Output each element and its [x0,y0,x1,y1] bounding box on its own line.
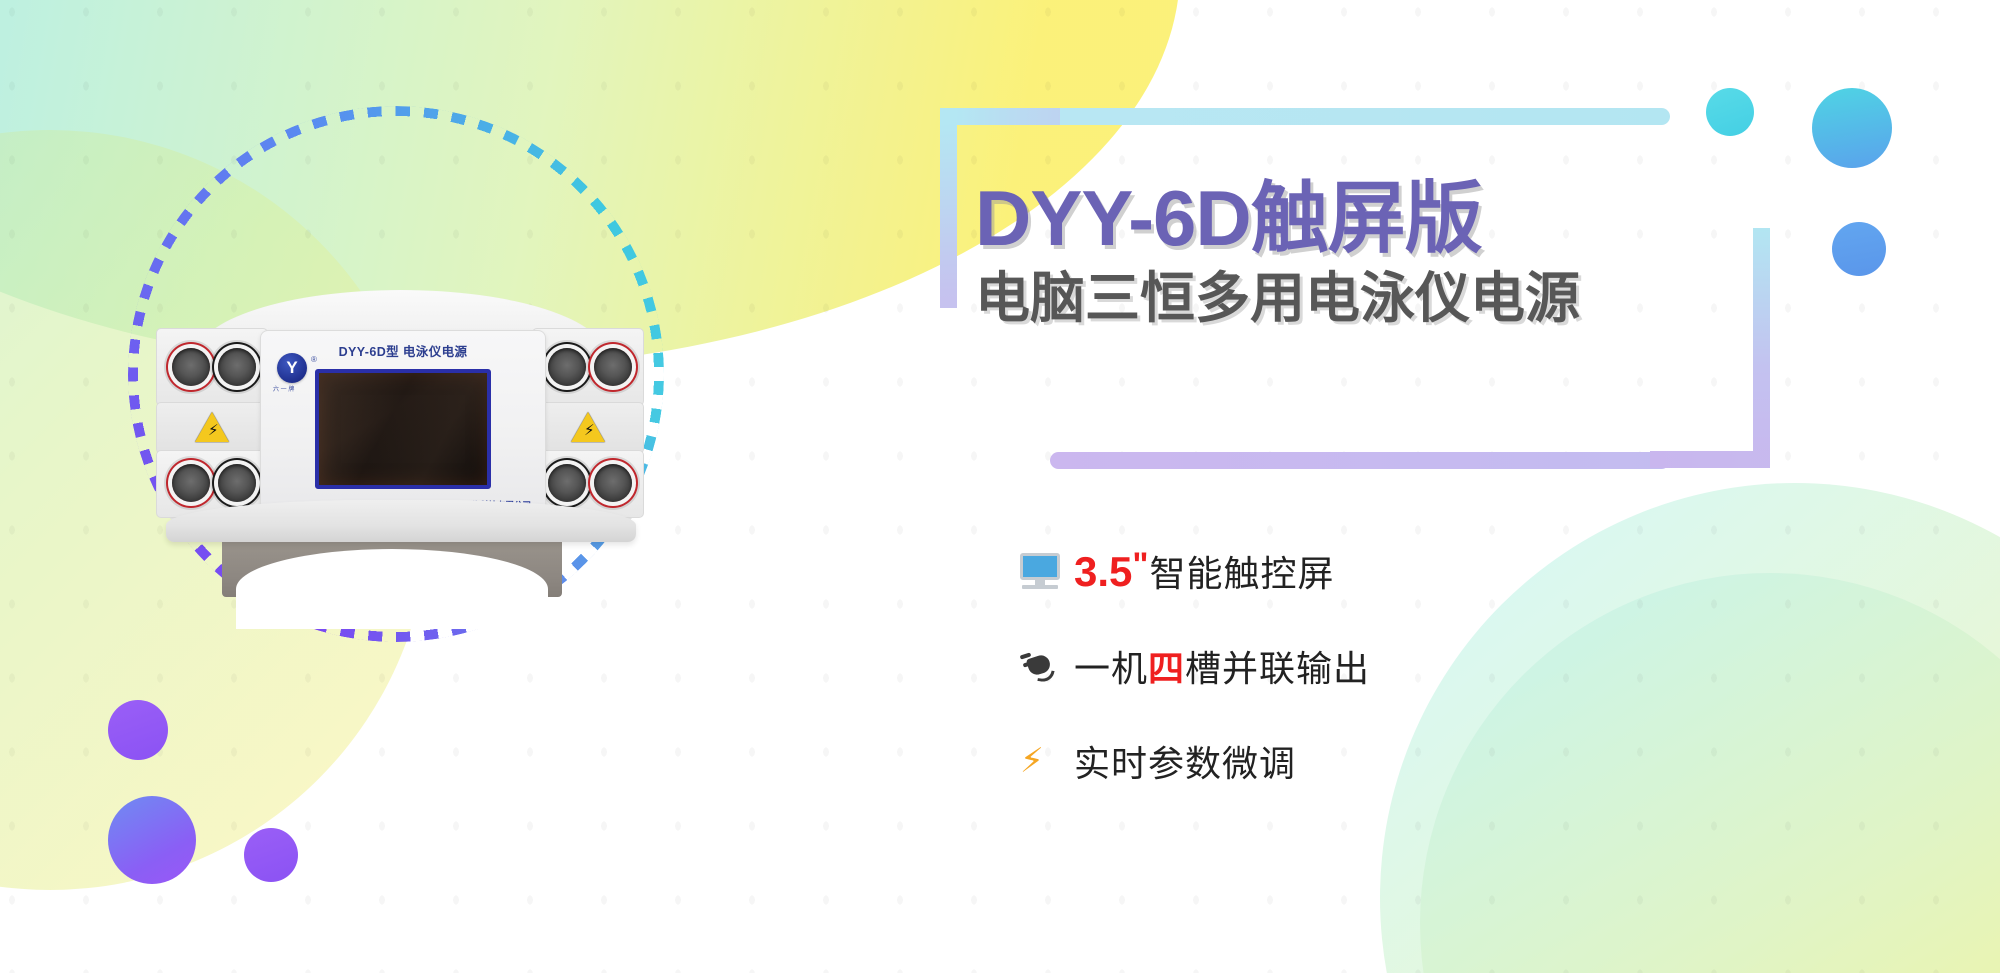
high-voltage-warning-icon-right: ⚡ [571,412,605,442]
manufacturer-logo-subtext: 六 一 牌 [273,384,294,393]
plug-icon [1020,648,1074,684]
banana-jack-red-top-left [172,348,210,386]
product-right-connector-wing: ⚡ [532,328,644,518]
product-lcd-touchscreen [315,369,491,489]
decorative-circle-blue-large [1812,88,1892,168]
feature-item-tuning: ⚡ 实时参数微调 [1020,735,1780,787]
page-subtitle: 电脑三恒多用电泳仪电源 [975,268,1715,329]
screen-feature-label: 智能触控屏 [1150,545,1335,597]
feature-list: 3.5"智能触控屏 一机四槽并联输出 ⚡ 实时参数微调 [1020,545,1780,830]
banana-jack-red-top-right [594,348,632,386]
product-image: ⚡ ⚡ DYY-6D型 电泳仪电源 Y ® 六 一 牌 北京六一 [150,290,650,620]
banana-jack-black-top-left [218,348,256,386]
product-shell: ⚡ ⚡ DYY-6D型 电泳仪电源 Y ® 六 一 牌 北京六一 [150,290,650,558]
slots-count-highlight: 四 [1148,640,1185,692]
warning-glyph-left: ⚡ [208,423,219,438]
frame-bar-bottom [1050,452,1670,469]
monitor-icon [1020,553,1074,589]
slots-prefix: 一机 [1074,640,1148,692]
frame-bar-top [1000,108,1670,125]
tuning-label: 实时参数微调 [1074,735,1296,787]
registered-trademark-symbol: ® [311,355,317,364]
screen-size-value: 3.5 [1074,548,1132,596]
headline-block: DYY-6D触屏版 电脑三恒多用电泳仪电源 [975,178,1715,328]
manufacturer-logo-icon: Y [277,353,307,383]
banana-jack-black-top-right [548,348,586,386]
promo-banner: ⚡ ⚡ DYY-6D型 电泳仪电源 Y ® 六 一 牌 北京六一 [0,0,2000,973]
product-front-panel: DYY-6D型 电泳仪电源 Y ® 六 一 牌 北京六一生物科技有限公司 [260,330,546,520]
feature-item-slots: 一机四槽并联输出 [1020,640,1780,692]
banana-jack-black-bottom-right [548,464,586,502]
product-body-lip [166,500,636,542]
screen-size-unit: " [1132,546,1149,585]
decorative-circle-blue-medium [1832,222,1886,276]
banana-jack-red-bottom-left [172,464,210,502]
decorative-circle-purple-large [108,796,196,884]
product-panel-title: DYY-6D型 电泳仪电源 [261,341,545,360]
slots-suffix: 槽并联输出 [1185,640,1370,692]
feature-text-slots: 一机四槽并联输出 [1074,640,1370,692]
lightning-bolt-icon: ⚡ [1020,744,1074,778]
feature-item-screen: 3.5"智能触控屏 [1020,545,1780,597]
feature-text-tuning: 实时参数微调 [1074,735,1296,787]
product-left-connector-wing: ⚡ [156,328,268,518]
high-voltage-warning-icon-left: ⚡ [195,412,229,442]
page-title: DYY-6D触屏版 [975,178,1715,260]
decorative-circle-purple-small [108,700,168,760]
decorative-circle-cyan-small [1706,88,1754,136]
feature-text-screen: 3.5"智能触控屏 [1074,545,1335,597]
banana-jack-black-bottom-left [218,464,256,502]
banana-jack-red-bottom-right [594,464,632,502]
warning-glyph-right: ⚡ [584,423,595,438]
decorative-circle-purple-medium [244,828,298,882]
